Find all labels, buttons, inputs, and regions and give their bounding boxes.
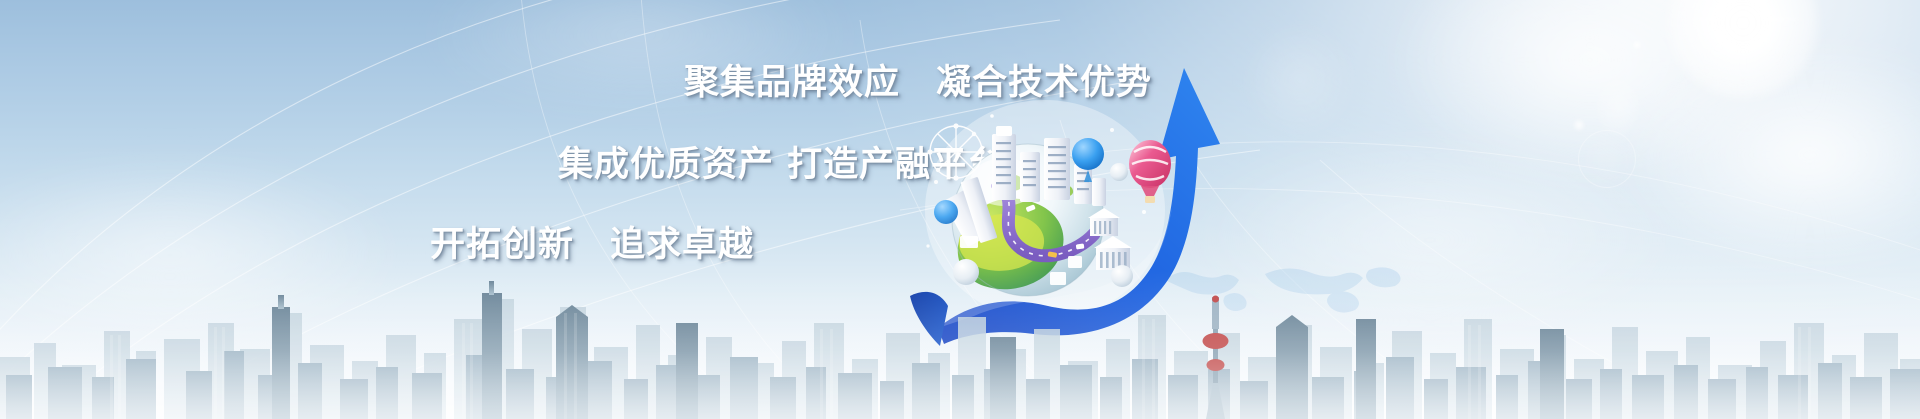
sun-ray <box>1732 0 1759 50</box>
sun-ray <box>1713 0 1776 52</box>
city-skyline <box>0 279 1920 419</box>
blue-sphere <box>934 200 958 224</box>
cloud-shape <box>1380 0 1800 190</box>
sun-ray <box>1718 6 1773 32</box>
pearl-sphere <box>1110 163 1128 181</box>
lens-flare-ghost <box>1632 40 1642 50</box>
sun-ray <box>1734 0 1756 44</box>
sun-ray <box>1710 0 1780 53</box>
sun-ray <box>1744 0 1747 78</box>
lens-flare-ghost <box>1596 78 1640 136</box>
lens-flare-ghost <box>1572 118 1586 132</box>
hero-banner: 聚集品牌效应 凝合技术优势 集成优质资产 打造产融平台 开拓创新 追求卓越 <box>0 0 1920 419</box>
sun-rays-icon <box>1630 0 1860 134</box>
sun-flare-icon <box>1668 0 1818 98</box>
sun-ray <box>1686 18 1804 21</box>
sun-ray <box>1720 8 1770 30</box>
cloud-shape <box>1620 40 1920 270</box>
blue-balloon-icon <box>1072 138 1104 170</box>
lens-flare-ring <box>1578 130 1636 188</box>
slogan-innovation-excellence: 开拓创新 追求卓越 <box>430 216 754 267</box>
lens-flare-ghost <box>1240 20 1360 140</box>
